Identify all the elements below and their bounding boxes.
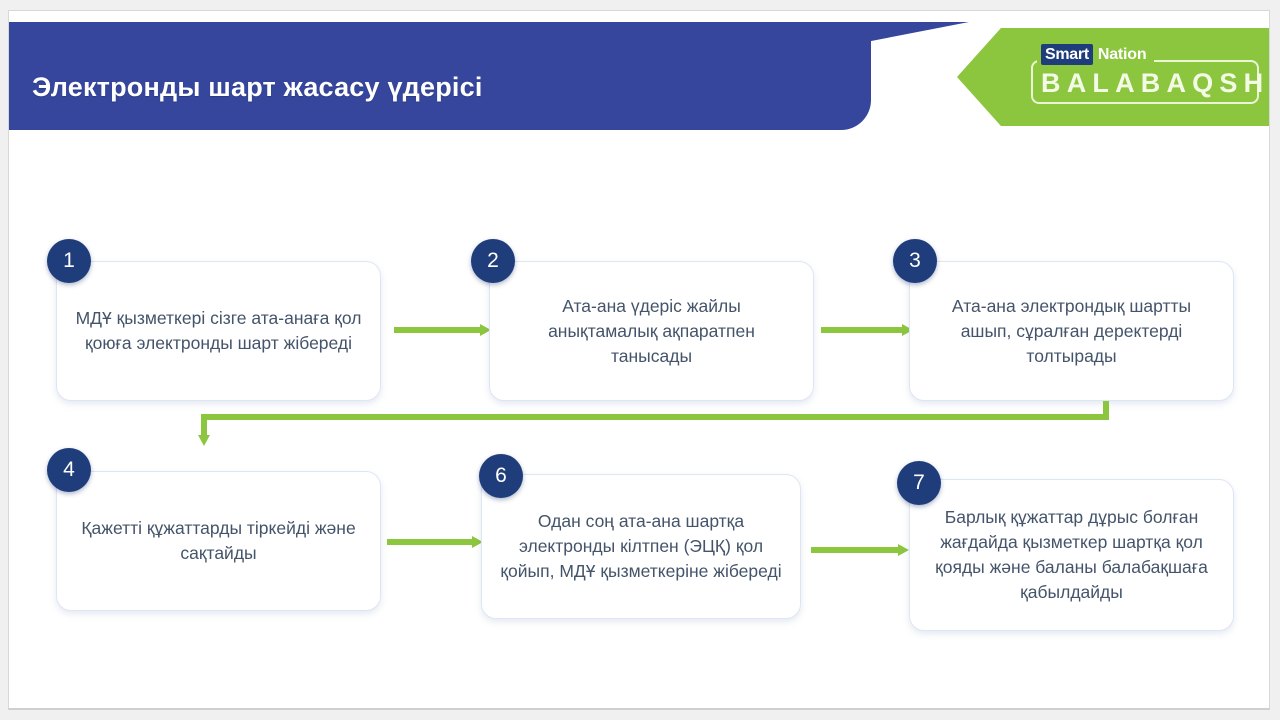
flow-step-badge-1: 1 (47, 239, 91, 283)
slide-frame: Электронды шарт жасасу үдерісі Smart Nat… (8, 10, 1270, 710)
flow-step-text-6: Одан соң ата-ана шартқа электронды кілтп… (482, 505, 800, 588)
flow-arrow-6-to-7 (811, 544, 909, 555)
flow-step-text-3: Ата-ана электрондық шартты ашып, сұралға… (910, 290, 1233, 373)
brand-logo: Smart Nation BALABAQSHA (1023, 44, 1263, 106)
logo-balabaqsha-text: BALABAQSHA (1041, 68, 1270, 98)
arrow-shaft (394, 327, 481, 333)
flow-step-badge-7: 7 (897, 461, 941, 505)
page-title: Электронды шарт жасасу үдерісі (32, 72, 483, 103)
flow-step-card-7: Барлық құжаттар дұрыс болған жағдайда қы… (909, 479, 1234, 631)
flow-step-badge-6: 6 (479, 454, 523, 498)
connector-segment-horizontal (201, 414, 1109, 420)
flow-arrow-1-to-2 (394, 324, 491, 335)
logo-smart-text: Smart (1041, 44, 1093, 65)
flow-step-text-2: Ата-ана үдеріс жайлы анықтамалық ақпарат… (490, 290, 813, 373)
flow-connector-3-to-4 (194, 401, 1109, 449)
slide-header: Электронды шарт жасасу үдерісі Smart Nat… (9, 22, 1270, 134)
flow-step-card-4: Қажетті құжаттарды тіркейді және сақтайд… (56, 471, 381, 611)
arrow-shaft (811, 547, 899, 553)
arrow-shaft (387, 539, 473, 545)
flow-arrow-4-to-6 (387, 536, 483, 547)
logo-top-row: Smart Nation (1037, 44, 1154, 65)
arrow-head-down-icon (198, 435, 210, 446)
flow-step-card-3: Ата-ана электрондық шартты ашып, сұралға… (909, 261, 1234, 401)
flow-step-badge-2: 2 (471, 239, 515, 283)
connector-segment-vertical-left (201, 414, 207, 437)
logo-nation-text: Nation (1098, 45, 1150, 64)
arrow-shaft (821, 327, 903, 333)
flow-step-badge-3: 3 (893, 239, 937, 283)
flow-step-text-7: Барлық құжаттар дұрыс болған жағдайда қы… (910, 501, 1233, 609)
arrow-head-right-icon (898, 544, 909, 556)
flow-step-text-1: МДҰ қызметкері сізге ата-анаға қол қоюға… (57, 302, 380, 360)
flow-step-text-4: Қажетті құжаттарды тіркейді және сақтайд… (57, 512, 380, 570)
flow-arrow-2-to-3 (821, 324, 913, 335)
flow-step-card-2: Ата-ана үдеріс жайлы анықтамалық ақпарат… (489, 261, 814, 401)
flow-step-card-6: Одан соң ата-ана шартқа электронды кілтп… (481, 474, 801, 619)
flow-step-card-1: МДҰ қызметкері сізге ата-анаға қол қоюға… (56, 261, 381, 401)
flow-step-badge-4: 4 (47, 448, 91, 492)
